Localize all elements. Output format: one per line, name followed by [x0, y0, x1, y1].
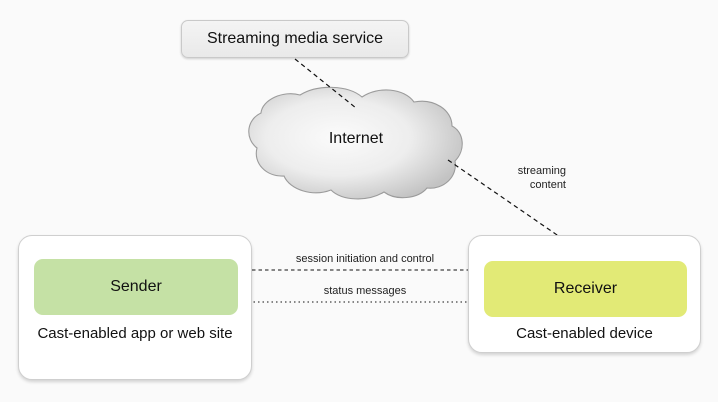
diagram-canvas: Streaming media service Internet Sender … [0, 0, 718, 402]
edge-label-status-messages: status messages [300, 285, 430, 299]
receiver-title: Receiver [554, 281, 617, 297]
streaming-media-service-label: Streaming media service [207, 31, 383, 47]
receiver-node[interactable]: Receiver [484, 261, 687, 317]
streaming-media-service-node[interactable]: Streaming media service [181, 20, 409, 58]
sender-container[interactable]: Sender Cast-enabled app or web site [18, 235, 252, 380]
sender-node[interactable]: Sender [34, 259, 238, 315]
edge-label-streaming-content: streaming content [486, 165, 566, 193]
internet-cloud-label: Internet [252, 130, 460, 148]
receiver-caption: Cast-enabled device [469, 324, 700, 344]
sender-title: Sender [110, 279, 162, 295]
receiver-container[interactable]: Receiver Cast-enabled device [468, 235, 701, 353]
sender-caption: Cast-enabled app or web site [19, 324, 251, 344]
edge-label-session-initiation: session initiation and control [285, 253, 445, 267]
